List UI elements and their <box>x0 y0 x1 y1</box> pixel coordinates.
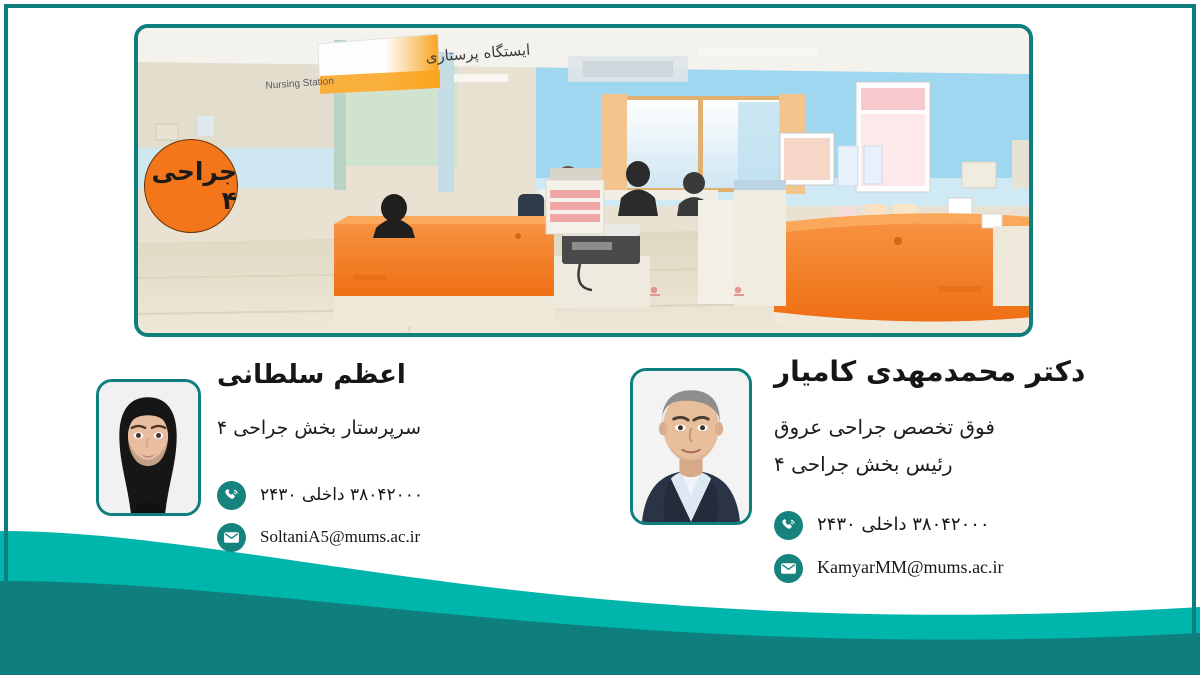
person-nurse-phone: ۳۸۰۴۲۰۰۰ داخلی ۲۴۳۰ <box>260 485 423 505</box>
person-nurse-email-row[interactable]: SoltaniA5@mums.ac.ir <box>217 523 420 552</box>
person-nurse-details: اعظم سلطانی سرپرستار بخش جراحی ۴ ۳۸۰۴۲۰۰… <box>217 360 447 565</box>
ward-badge-label: جراحی ۴ <box>145 157 237 215</box>
hero-photo-nursing-station: ایستگاه پرستاری Nursing Station <box>134 24 1033 337</box>
ward-badge: جراحی ۴ <box>144 139 238 233</box>
person-doctor-role-position: رئیس بخش جراحی ۴ <box>774 452 953 477</box>
person-card-doctor: دکتر محمدمهدی کامیار فوق تخصص جراحی عروق… <box>630 355 1059 597</box>
person-nurse-phone-row[interactable]: ۳۸۰۴۲۰۰۰ داخلی ۲۴۳۰ <box>217 481 423 510</box>
person-nurse-portrait <box>96 379 201 516</box>
person-doctor-phone: ۳۸۰۴۲۰۰۰ داخلی ۲۴۳۰ <box>817 514 990 536</box>
person-doctor-portrait <box>630 368 752 525</box>
person-doctor-email: KamyarMM@mums.ac.ir <box>817 557 1004 579</box>
person-nurse-role: سرپرستار بخش جراحی ۴ <box>217 417 421 441</box>
phone-icon <box>774 511 803 540</box>
slide-root: ایستگاه پرستاری Nursing Station جراحی ۴ … <box>0 0 1200 675</box>
nurse-portrait-illustration <box>99 382 198 513</box>
doctor-portrait-illustration <box>633 371 749 522</box>
envelope-icon <box>774 554 803 583</box>
person-doctor-name: دکتر محمدمهدی کامیار <box>774 355 1085 389</box>
person-doctor-details: دکتر محمدمهدی کامیار فوق تخصص جراحی عروق… <box>774 355 1059 597</box>
person-doctor-phone-row[interactable]: ۳۸۰۴۲۰۰۰ داخلی ۲۴۳۰ <box>774 511 990 540</box>
envelope-icon <box>217 523 246 552</box>
person-nurse-name: اعظم سلطانی <box>217 360 406 391</box>
nursing-station-illustration: ایستگاه پرستاری Nursing Station <box>138 28 1029 333</box>
person-nurse-email: SoltaniA5@mums.ac.ir <box>260 527 420 547</box>
person-doctor-role-specialty: فوق تخصص جراحی عروق <box>774 415 995 440</box>
person-doctor-email-row[interactable]: KamyarMM@mums.ac.ir <box>774 554 1004 583</box>
phone-icon <box>217 481 246 510</box>
person-card-nurse: اعظم سلطانی سرپرستار بخش جراحی ۴ ۳۸۰۴۲۰۰… <box>96 360 447 565</box>
